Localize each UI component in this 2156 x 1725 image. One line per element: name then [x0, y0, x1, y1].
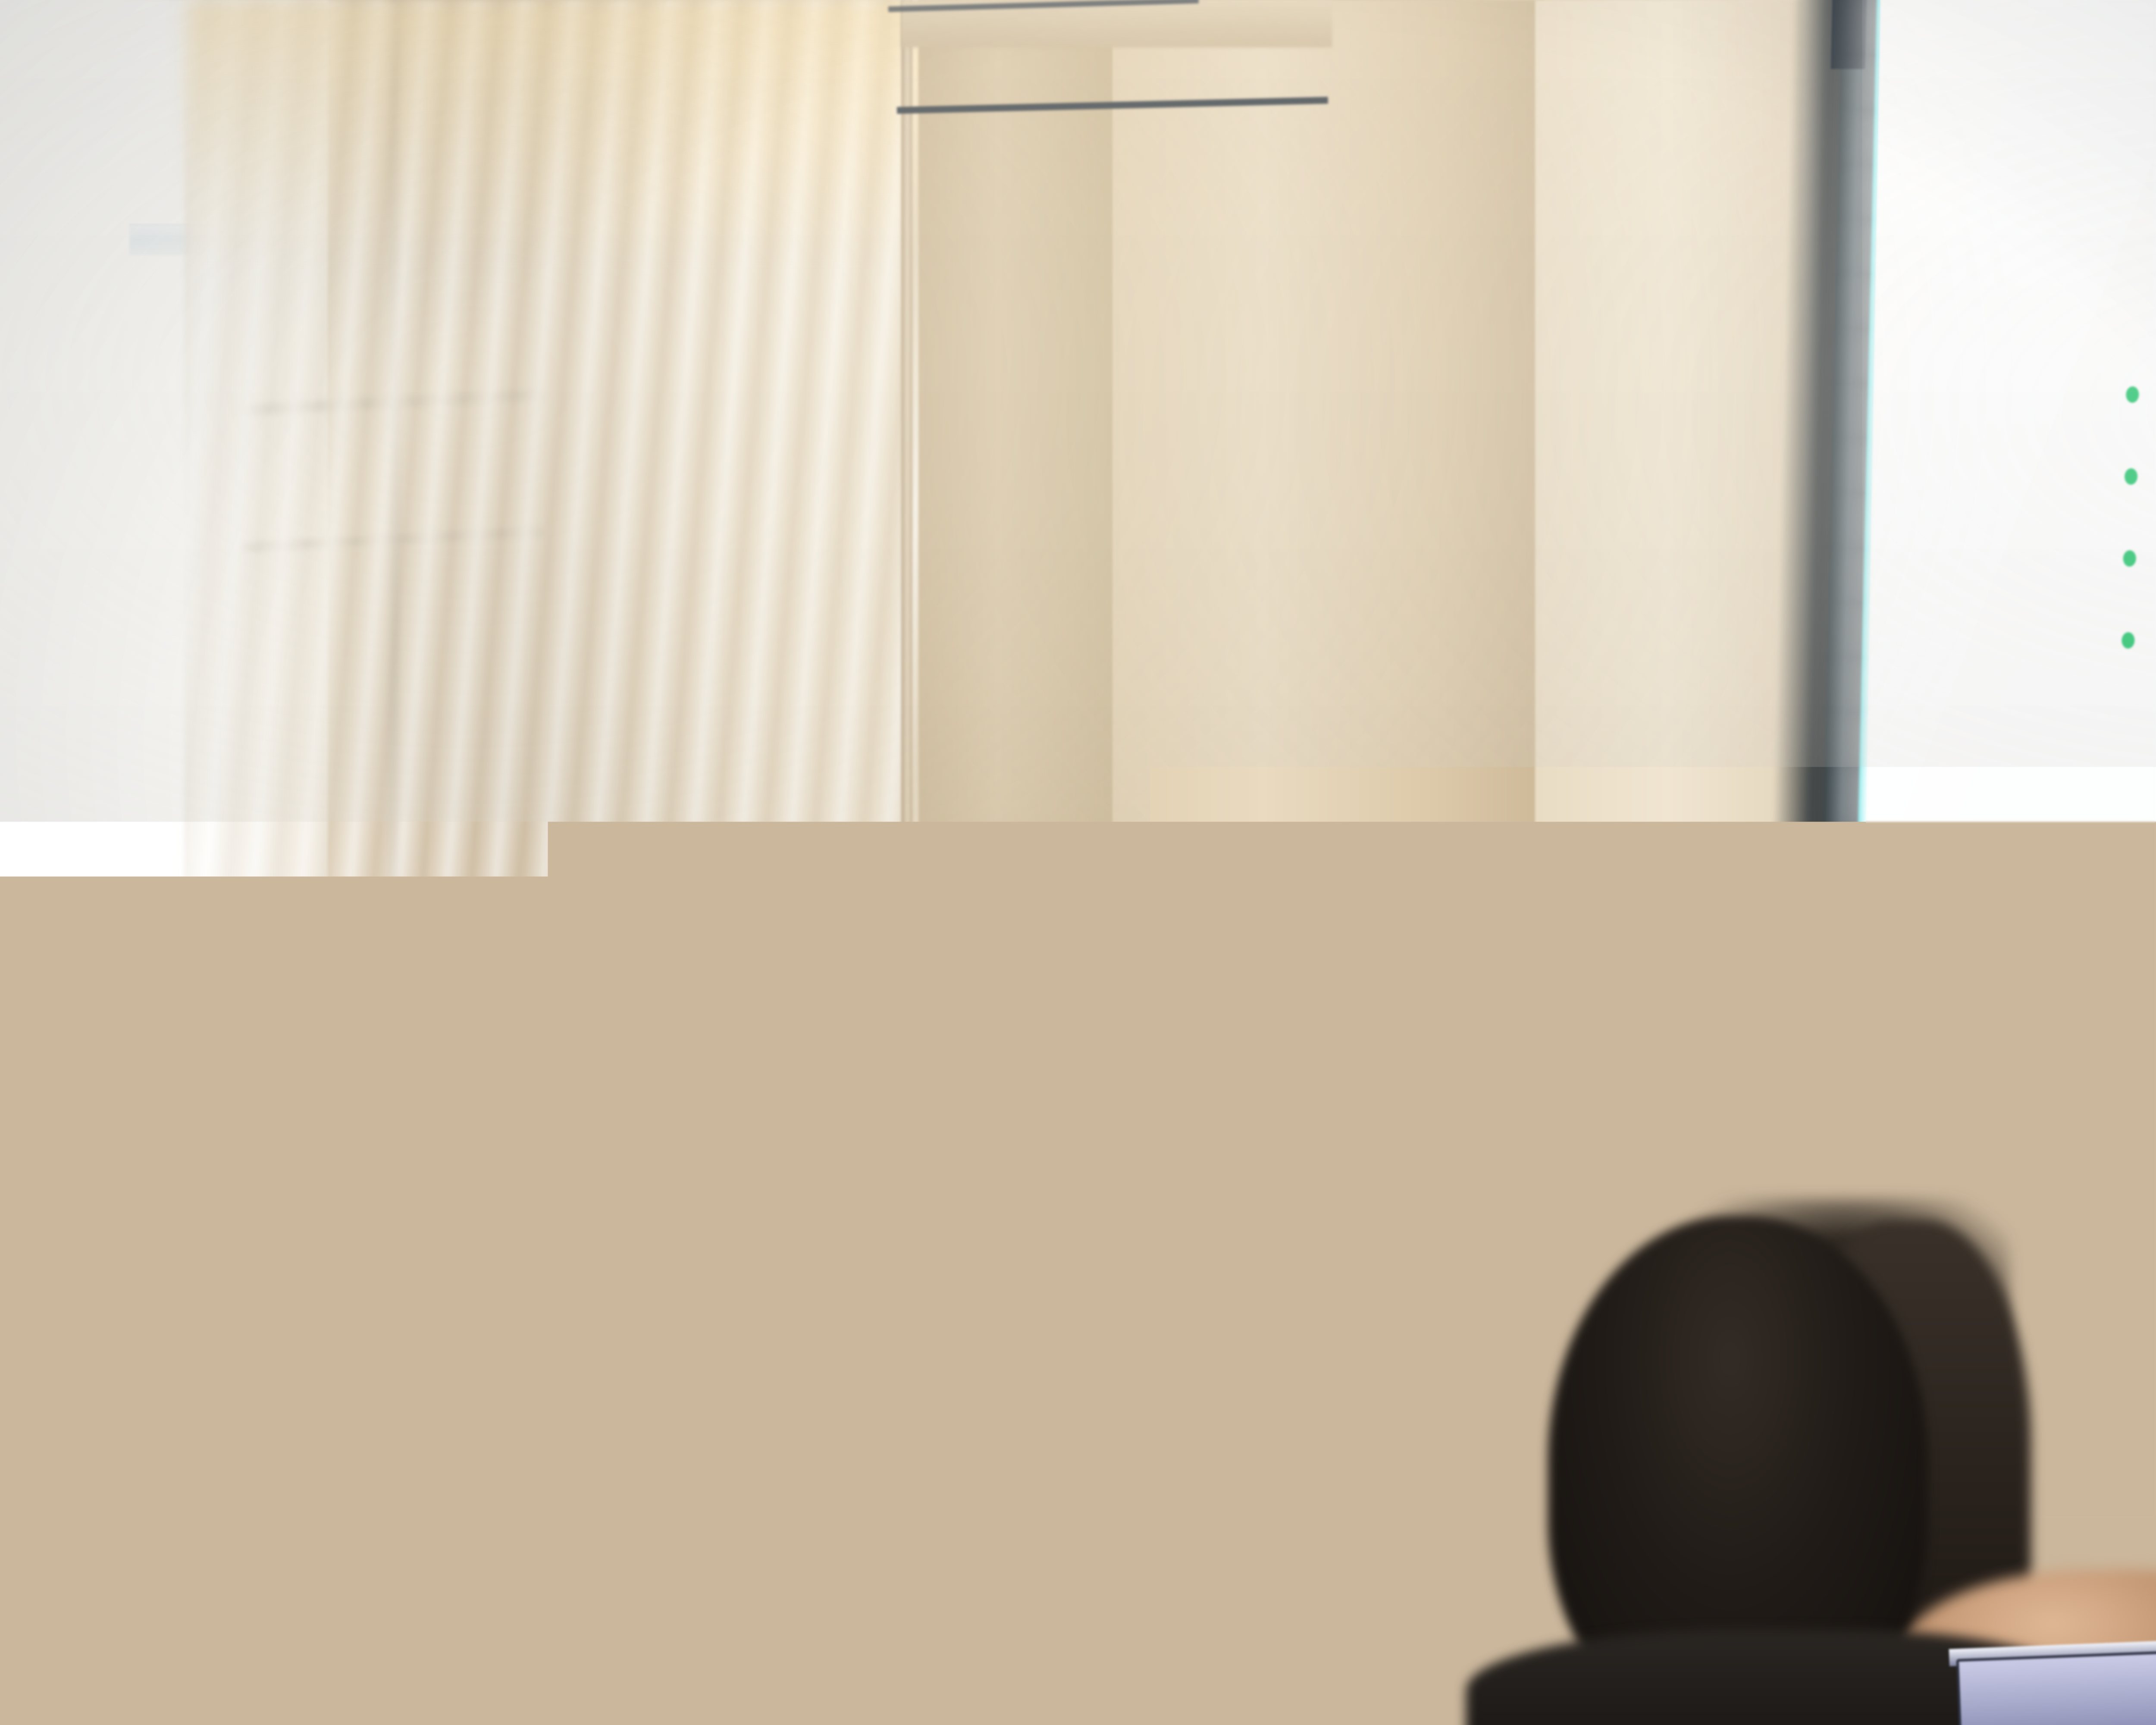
slide-bullet-item: 自然资本	[2122, 517, 2156, 599]
curtain-warm-light	[185, 0, 944, 267]
audience-center-hand	[1108, 1596, 1246, 1725]
bullet-dot-icon	[2123, 550, 2136, 567]
bullet-dot-icon	[2125, 468, 2138, 485]
slide-bullet-item: 生态足迹	[2121, 599, 2156, 681]
audience-left-hair-highlight	[0, 1596, 147, 1725]
speaker-ear-left	[885, 1078, 915, 1130]
slide-bullet-item: 生态系统	[2124, 436, 2156, 517]
speaker-hair-highlight	[927, 979, 1065, 1035]
bullet-dot-icon	[2122, 632, 2135, 649]
screen-border-top-block	[1831, 0, 1868, 69]
slide-bullet-list: 生态产品 生态系统 自然资本 生态足迹	[2121, 354, 2156, 681]
eyeglasses-lens-right	[1023, 1057, 1080, 1101]
speaker-nose	[982, 1087, 1020, 1151]
speaker-ear-right	[1093, 1078, 1125, 1133]
audience-center-shirt-patch	[776, 1682, 849, 1725]
speaker-mouth	[975, 1166, 1053, 1182]
tumbler-highlight	[470, 1311, 479, 1458]
eyeglasses-lens-left	[931, 1058, 988, 1103]
slide-bullet-item: 生态产品	[2125, 354, 2156, 436]
bullet-dot-icon	[2126, 386, 2139, 403]
eyeglasses-bridge	[993, 1065, 1018, 1069]
audience-center-shirt	[595, 1548, 1164, 1725]
podium-notch	[1266, 1457, 1292, 1499]
audience-left-rim-light	[65, 1324, 220, 1600]
window-glare-highlight	[0, 0, 203, 1466]
lecture-room-photo: 生态产 生态产品 生态系统 自然资本 生态足迹	[0, 0, 2156, 1725]
thinkpad-logo-red-dot-icon	[618, 1303, 627, 1312]
tumbler-lid	[461, 1300, 515, 1325]
